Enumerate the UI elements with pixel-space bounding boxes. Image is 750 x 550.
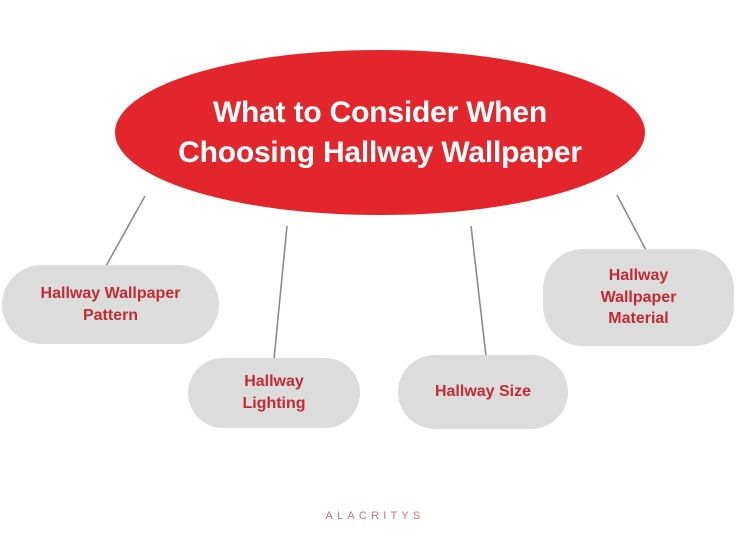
child-node-label-line3: Material xyxy=(608,310,668,327)
child-node-label-line1: Hallway Size xyxy=(435,383,531,400)
connector-line-root-to-size xyxy=(471,226,486,356)
child-node-hallway-size[interactable]: Hallway Size xyxy=(398,355,568,429)
child-node-label-line1: Hallway Wallpaper xyxy=(41,285,181,302)
root-node-label: What to Consider When Choosing Hallway W… xyxy=(178,93,582,172)
child-node-label-line2: Pattern xyxy=(83,307,138,324)
diagram-canvas: What to Consider When Choosing Hallway W… xyxy=(0,0,750,550)
child-node-label-line2: Lighting xyxy=(242,395,305,412)
child-node-label: Hallway Wallpaper Pattern xyxy=(41,283,181,326)
child-node-label: Hallway Lighting xyxy=(242,371,305,414)
connector-line-root-to-material xyxy=(617,195,647,252)
brand-watermark: ALACRITYS xyxy=(0,510,750,522)
child-node-hallway-lighting[interactable]: Hallway Lighting xyxy=(188,358,360,428)
connector-line-root-to-lighting xyxy=(274,226,287,359)
child-node-label-line1: Hallway xyxy=(609,267,669,284)
child-node-label-line1: Hallway xyxy=(244,373,304,390)
root-node-label-line2: Choosing Hallway Wallpaper xyxy=(178,136,582,169)
child-node-label-line2: Wallpaper xyxy=(601,289,677,306)
root-node-label-line1: What to Consider When xyxy=(213,96,547,129)
child-node-label: Hallway Size xyxy=(435,381,531,403)
child-node-hallway-wallpaper-material[interactable]: Hallway Wallpaper Material xyxy=(543,249,734,346)
child-node-hallway-wallpaper-pattern[interactable]: Hallway Wallpaper Pattern xyxy=(2,265,219,344)
child-node-label: Hallway Wallpaper Material xyxy=(601,265,677,330)
root-node-consider-hallway-wallpaper[interactable]: What to Consider When Choosing Hallway W… xyxy=(115,50,645,215)
connector-line-root-to-pattern xyxy=(106,196,145,266)
